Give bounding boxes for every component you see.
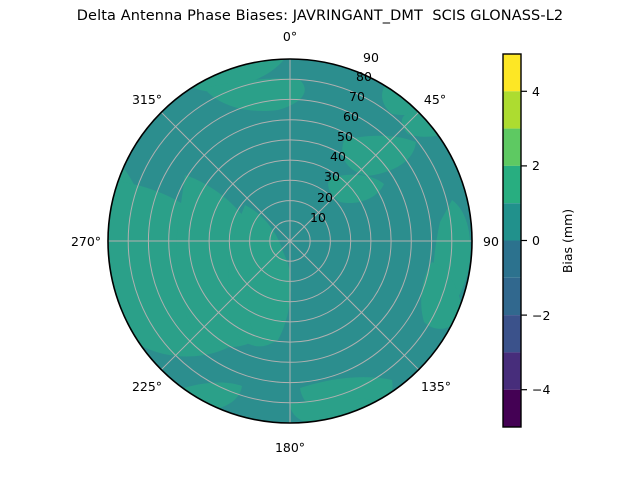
angular-tick-270: 270°: [71, 234, 101, 249]
radial-tick-30: 30: [324, 169, 340, 184]
colorbar-tick-label-neg2: −2: [532, 308, 550, 323]
polar-contour-svg: 0° 45° 90 135° 180° 225° 270° 315° 10 20…: [0, 0, 640, 480]
radial-tick-20: 20: [317, 190, 333, 205]
colorbar-band-8: [503, 91, 521, 128]
colorbar-band-5: [503, 203, 521, 240]
colorbar-band-9: [503, 54, 521, 91]
radial-tick-10: 10: [310, 210, 326, 225]
radial-tick-70: 70: [349, 89, 365, 104]
radial-tick-60: 60: [343, 109, 359, 124]
colorbar-band-2: [503, 315, 521, 352]
colorbar-band-6: [503, 166, 521, 203]
colorbar-tick-labels: 4 2 0 −2 −4: [532, 84, 550, 397]
radial-tick-40: 40: [330, 149, 346, 164]
colorbar-tick-label-0: 0: [532, 233, 540, 248]
radial-tick-80: 80: [356, 69, 372, 84]
colorbar-tick-label-4: 4: [532, 84, 540, 99]
polar-plot-area: 0° 45° 90 135° 180° 225° 270° 315° 10 20…: [0, 0, 640, 480]
colorbar-tick-label-neg4: −4: [532, 382, 550, 397]
colorbar-band-0: [503, 390, 521, 427]
colorbar-band-4: [503, 241, 521, 278]
angular-tick-315: 315°: [132, 92, 162, 107]
colorbar[interactable]: 4 2 0 −2 −4 Bias (mm): [503, 54, 575, 427]
colorbar-ticks: [521, 91, 527, 389]
colorbar-band-3: [503, 278, 521, 315]
angular-tick-45: 45°: [424, 92, 446, 107]
angular-tick-225: 225°: [132, 379, 162, 394]
angular-tick-135: 135°: [421, 379, 451, 394]
angular-tick-0: 0°: [283, 29, 297, 44]
colorbar-band-1: [503, 352, 521, 389]
colorbar-bands: [503, 54, 521, 427]
colorbar-band-7: [503, 129, 521, 166]
angular-tick-90: 90: [483, 234, 499, 249]
angular-gridlines: [108, 59, 472, 423]
figure-canvas: Delta Antenna Phase Biases: JAVRINGANT_D…: [0, 0, 640, 480]
colorbar-tick-label-2: 2: [532, 158, 540, 173]
angular-tick-180: 180°: [275, 440, 305, 455]
radial-tick-50: 50: [337, 129, 353, 144]
radial-tick-90: 90: [363, 50, 379, 65]
colorbar-axis-title: Bias (mm): [560, 209, 575, 273]
